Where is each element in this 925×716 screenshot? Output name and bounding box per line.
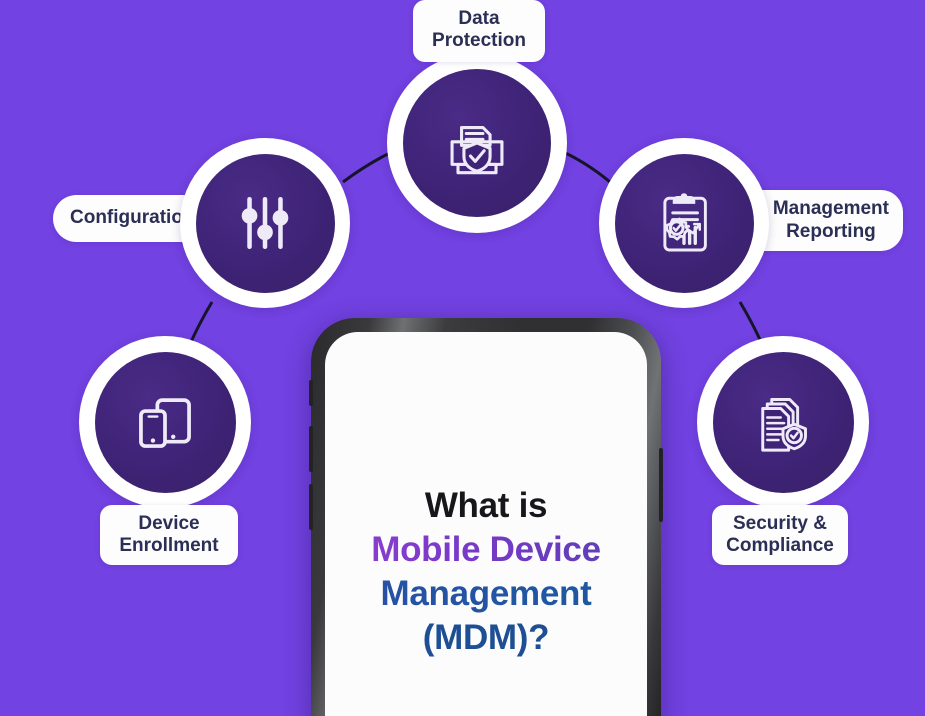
- node-security-compliance-disc: [713, 352, 854, 493]
- label-security-compliance-line-2: Compliance: [726, 535, 834, 557]
- phone-volume-down-button[interactable]: [309, 484, 313, 530]
- node-security-compliance[interactable]: [697, 336, 869, 508]
- node-configuration-disc: [196, 154, 335, 293]
- title-line-mdm: (MDM)?: [335, 616, 637, 660]
- label-data-protection-line-1: Data: [432, 8, 526, 30]
- connector-data-to-reporting: [559, 150, 610, 182]
- label-configuration-line-1: Configuration: [70, 207, 195, 229]
- documents-shield-check-icon: [747, 386, 819, 458]
- phone-power-button[interactable]: [659, 448, 663, 522]
- title-line-what-is: What is: [335, 484, 637, 528]
- label-security-compliance-line-1: Security &: [726, 513, 834, 535]
- label-device-enrollment-line-1: Device: [119, 513, 218, 535]
- phone-mockup: What is Mobile Device Management (MDM)?: [311, 318, 661, 716]
- node-management-reporting-disc: [615, 154, 754, 293]
- label-data-protection: Data Protection: [413, 0, 545, 62]
- node-data-protection[interactable]: [387, 53, 567, 233]
- label-management-reporting-line-2: Reporting: [773, 221, 889, 243]
- phone-mute-switch[interactable]: [309, 380, 313, 406]
- folder-shield-check-icon: [439, 105, 515, 181]
- phone-tablet-icon: [130, 387, 200, 457]
- phone-screen: What is Mobile Device Management (MDM)?: [325, 332, 647, 716]
- connector-config-to-enrollment: [190, 302, 212, 344]
- label-security-compliance: Security & Compliance: [712, 505, 848, 565]
- title-line-mobile-device: Mobile Device: [335, 528, 637, 572]
- node-management-reporting[interactable]: [599, 138, 769, 308]
- phone-volume-up-button[interactable]: [309, 426, 313, 472]
- title-line-management: Management: [335, 572, 637, 616]
- label-data-protection-line-2: Protection: [432, 30, 526, 52]
- node-device-enrollment-disc: [95, 352, 236, 493]
- page-title: What is Mobile Device Management (MDM)?: [325, 484, 647, 660]
- infographic-canvas: Configuration Management Reporting Data …: [0, 0, 925, 716]
- node-data-protection-disc: [403, 69, 551, 217]
- label-device-enrollment: Device Enrollment: [100, 505, 238, 565]
- node-configuration[interactable]: [180, 138, 350, 308]
- label-management-reporting-line-1: Management: [773, 198, 889, 220]
- connector-reporting-to-security: [740, 302, 762, 344]
- clipboard-chart-gear-icon: [648, 187, 720, 259]
- label-device-enrollment-line-2: Enrollment: [119, 535, 218, 557]
- node-device-enrollment[interactable]: [79, 336, 251, 508]
- sliders-icon: [232, 190, 298, 256]
